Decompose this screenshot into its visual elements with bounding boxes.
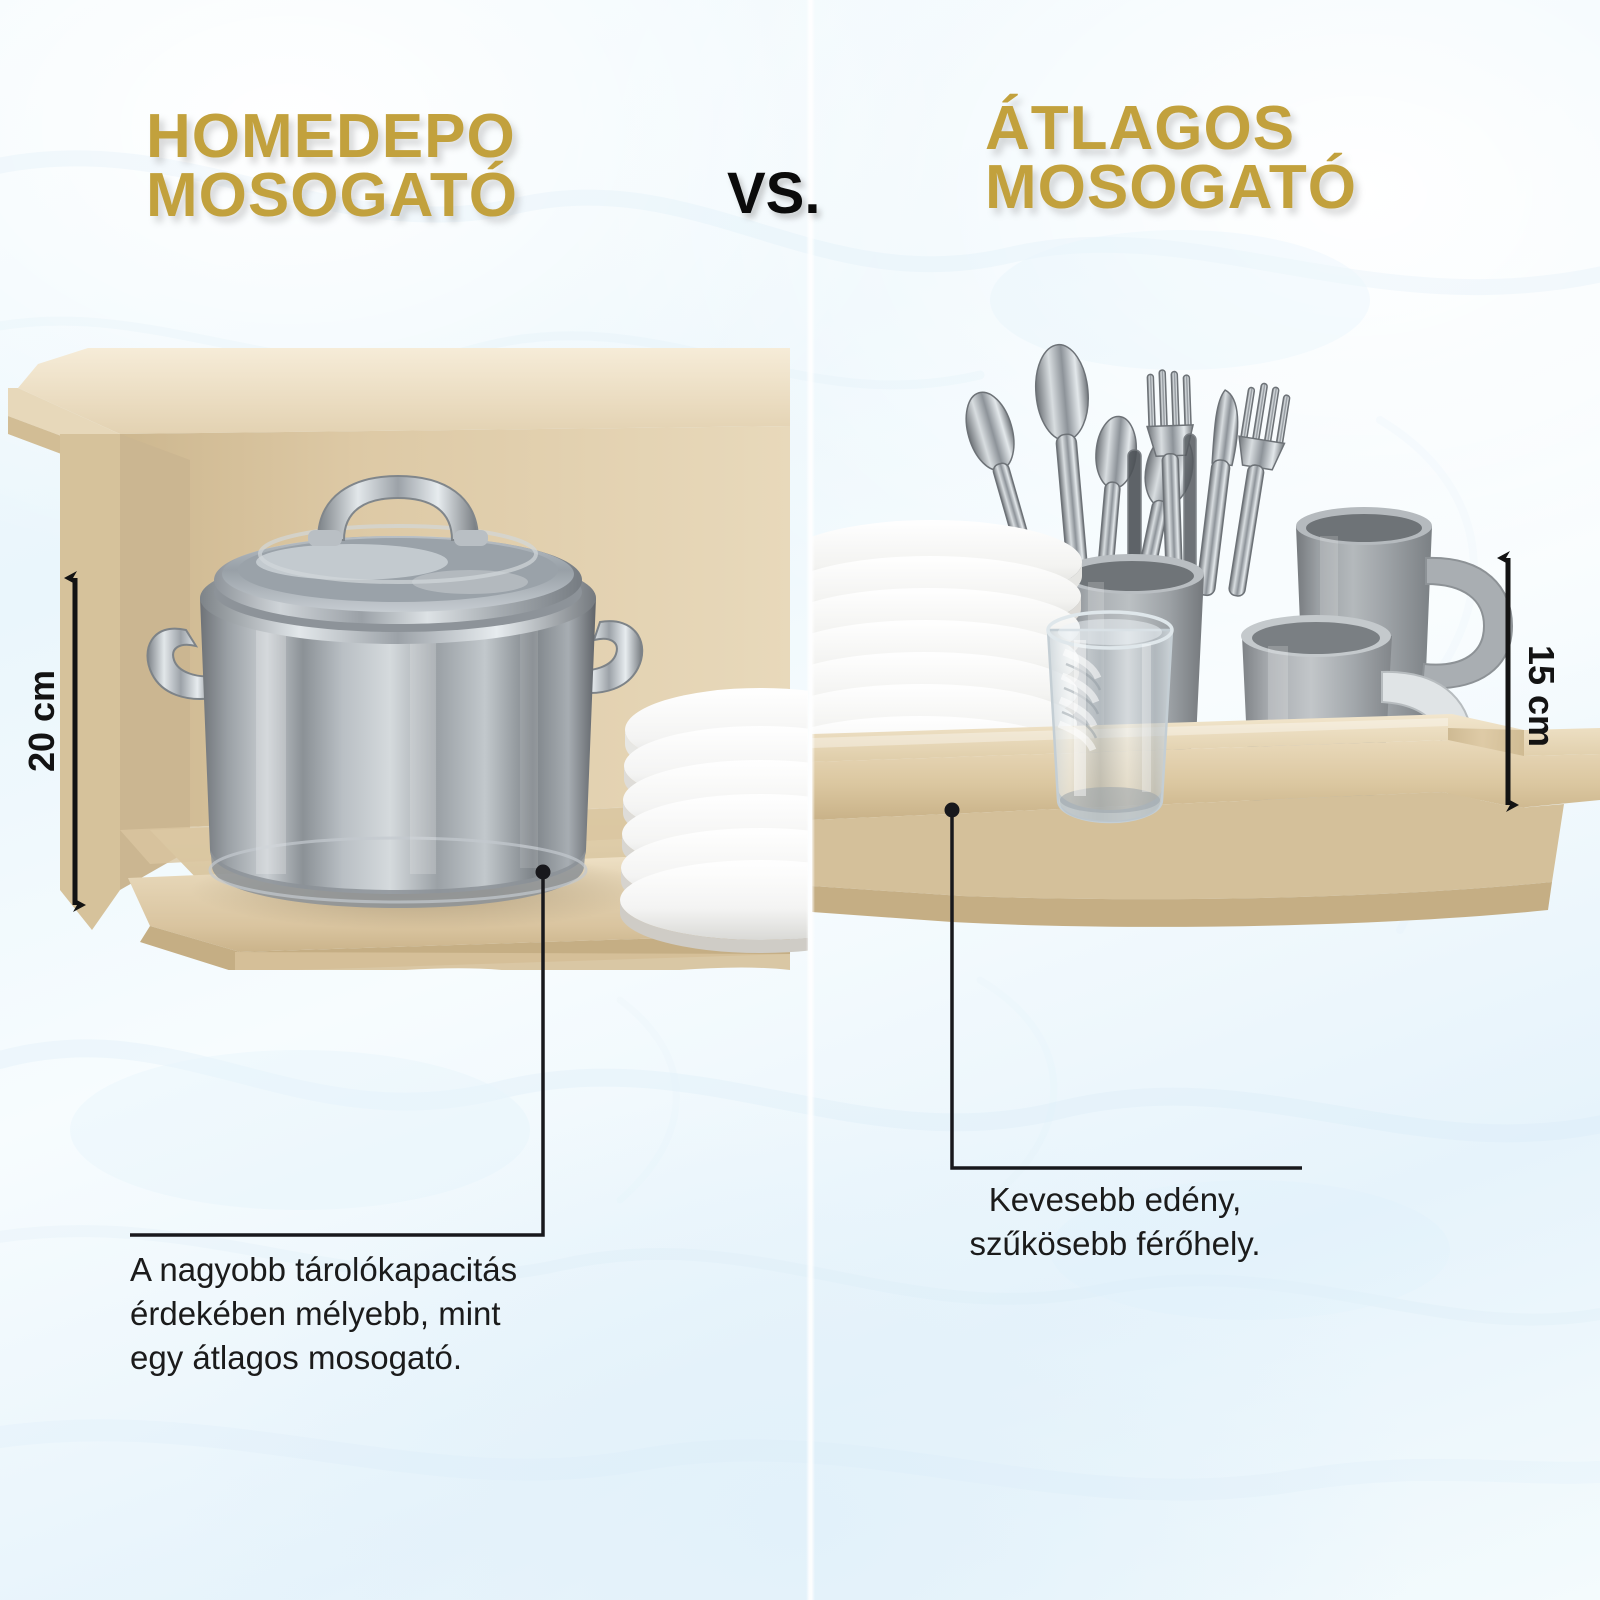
infographic-canvas: HOMEDEPO MOSOGATÓ VS. ÁTLAGOS MOSOGATÓ 2… — [0, 0, 1600, 1600]
left-leader-line — [130, 865, 551, 1236]
right-product-title: ÁTLAGOS MOSOGATÓ — [985, 100, 1357, 218]
left-product-title: HOMEDEPO MOSOGATÓ — [146, 108, 518, 226]
right-depth-label: 15 cm — [1520, 645, 1562, 747]
left-caption: A nagyobb tárolókapacitás érdekében mély… — [130, 1248, 650, 1380]
left-depth-label: 20 cm — [21, 670, 63, 772]
right-caption: Kevesebb edény, szűkösebb férőhely. — [925, 1178, 1305, 1266]
right-leader-line — [945, 803, 1303, 1169]
versus-label: VS. — [727, 160, 821, 227]
